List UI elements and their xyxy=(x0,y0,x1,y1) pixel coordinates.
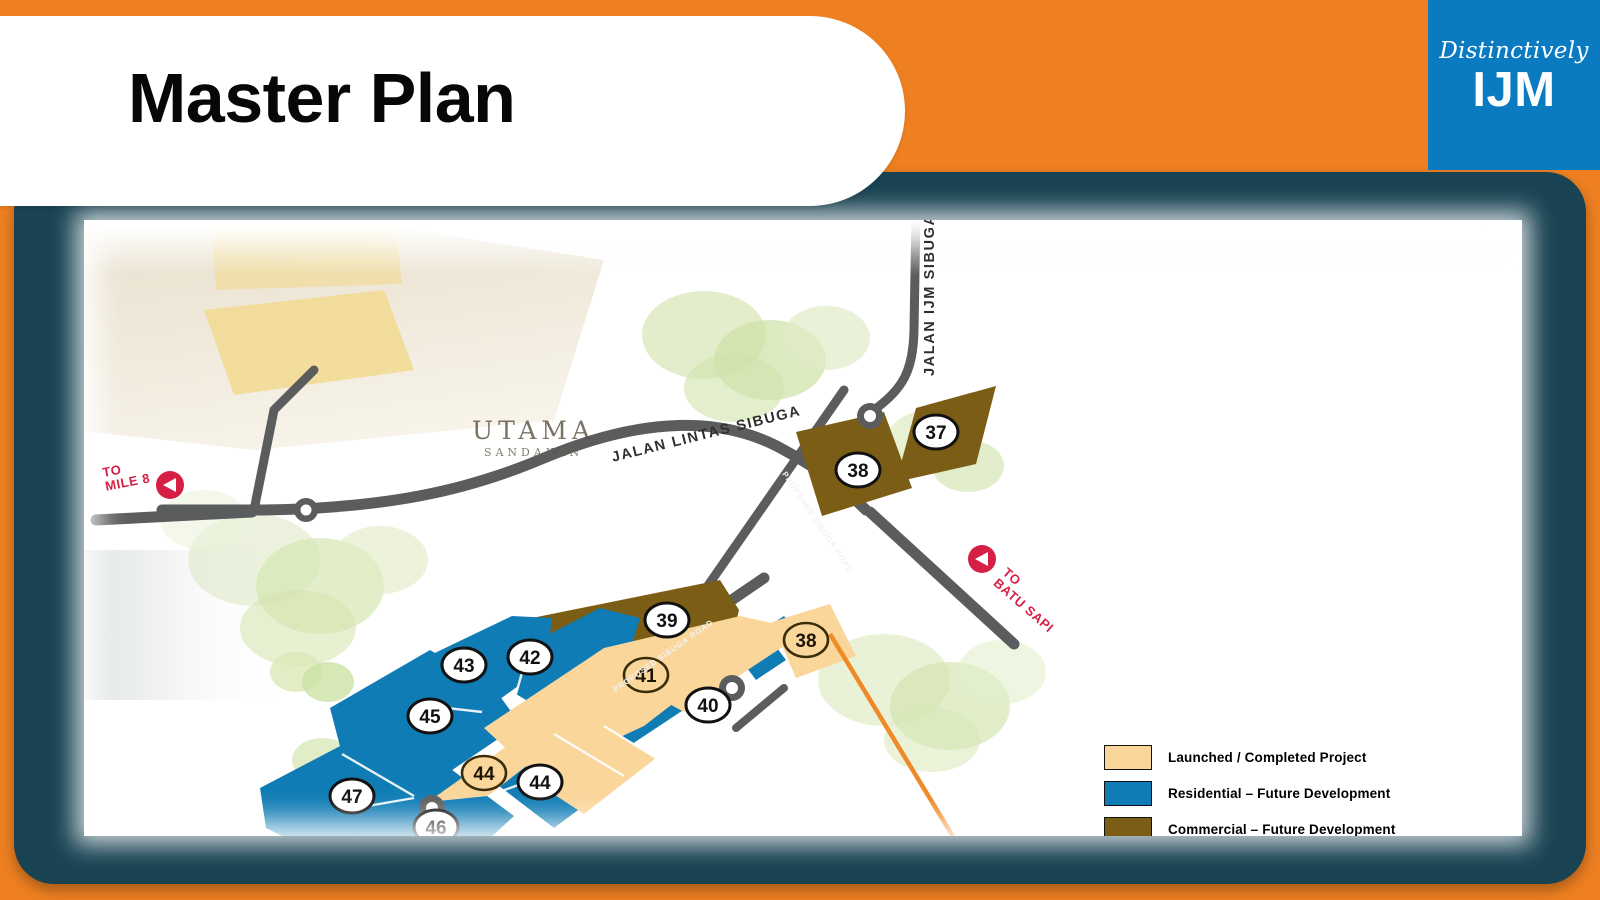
utama-main-text: UTAMA xyxy=(472,416,595,445)
page-title: Master Plan xyxy=(128,58,515,138)
direction-marker-batu-sapi xyxy=(968,545,996,573)
legend-item-residential: Residential – Future Development xyxy=(1104,776,1395,810)
svg-text:41: 41 xyxy=(635,666,657,687)
plot-badge-41: 41 xyxy=(624,658,668,692)
plot-badge-44-residential: 44 xyxy=(518,765,562,799)
map-legend: Launched / Completed Project Residential… xyxy=(1104,740,1395,836)
svg-text:44: 44 xyxy=(529,773,551,794)
plot-badge-47: 47 xyxy=(330,779,374,813)
plot-badge-44-launched: 44 xyxy=(462,756,506,790)
svg-text:38: 38 xyxy=(847,461,868,482)
svg-text:37: 37 xyxy=(925,423,946,444)
legend-label-residential: Residential – Future Development xyxy=(1168,786,1390,801)
plot-badge-39: 39 xyxy=(645,603,689,637)
utama-sandakan-wordmark: UTAMA SANDAKAN xyxy=(472,416,595,459)
roundabout-west xyxy=(294,498,318,522)
svg-text:45: 45 xyxy=(419,707,441,728)
plot-badge-42: 42 xyxy=(508,640,552,674)
svg-text:42: 42 xyxy=(519,648,540,669)
plot-badge-45: 45 xyxy=(408,699,452,733)
map-frame: 37 38 38 39 xyxy=(14,172,1586,884)
legend-item-commercial: Commercial – Future Development xyxy=(1104,812,1395,836)
plot-badge-40: 40 xyxy=(686,688,730,722)
map-top-fade xyxy=(84,220,1522,276)
slide-canvas: 37 38 38 39 xyxy=(0,0,1600,900)
svg-text:43: 43 xyxy=(453,656,474,677)
svg-text:46: 46 xyxy=(425,818,446,836)
plot-badge-38-commercial: 38 xyxy=(836,453,880,487)
ijm-tagline: Distinctively xyxy=(1428,40,1600,63)
plot-badge-37: 37 xyxy=(914,415,958,449)
plot-badge-38-launched: 38 xyxy=(784,623,828,657)
legend-swatch-commercial xyxy=(1104,817,1152,837)
plot-badge-43: 43 xyxy=(442,648,486,682)
utama-sub-text: SANDAKAN xyxy=(472,446,595,459)
legend-label-launched: Launched / Completed Project xyxy=(1168,750,1366,765)
map-viewport[interactable]: 37 38 38 39 xyxy=(84,220,1522,836)
legend-swatch-residential xyxy=(1104,781,1152,806)
svg-text:40: 40 xyxy=(697,696,718,717)
ijm-brand-name: IJM xyxy=(1428,65,1600,116)
legend-swatch-launched xyxy=(1104,745,1152,770)
legend-label-commercial: Commercial – Future Development xyxy=(1168,822,1395,837)
ijm-logo[interactable]: Distinctively IJM xyxy=(1428,0,1600,170)
roundabout-north xyxy=(857,403,883,429)
svg-text:47: 47 xyxy=(341,787,362,808)
svg-text:44: 44 xyxy=(473,764,495,785)
svg-text:38: 38 xyxy=(795,631,816,652)
plot-badge-46: 46 xyxy=(414,810,458,836)
svg-text:39: 39 xyxy=(656,611,677,632)
direction-marker-mile8 xyxy=(156,471,184,499)
legend-item-launched: Launched / Completed Project xyxy=(1104,740,1395,774)
